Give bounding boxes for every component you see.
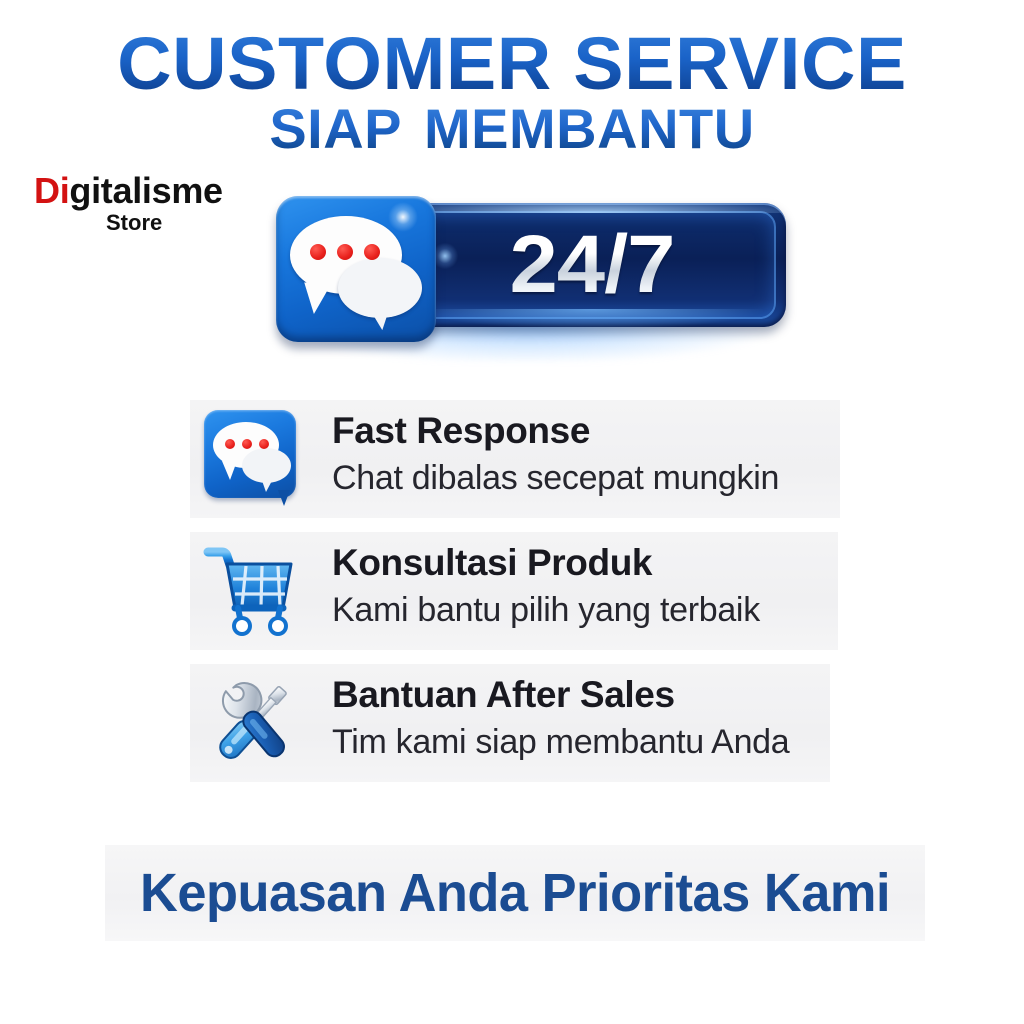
brand-logo-letter-i: i — [60, 170, 70, 211]
chat-icon-pointer — [278, 490, 290, 506]
typing-dot — [242, 439, 252, 449]
list-item: Konsultasi Produk Kami bantu pilih yang … — [0, 532, 1024, 650]
feature-icon-slot — [198, 672, 308, 776]
feature-text-group: Bantuan After Sales Tim kami siap memban… — [332, 672, 789, 766]
feature-title: Konsultasi Produk — [332, 540, 760, 586]
feature-list: Fast Response Chat dibalas secepat mungk… — [0, 400, 1024, 796]
badge-bar: 24/7 — [398, 203, 786, 327]
feature-text-group: Konsultasi Produk Kami bantu pilih yang … — [332, 540, 760, 634]
brand-logo: Digitalisme Store — [34, 172, 274, 235]
badge-icon-shine — [388, 202, 418, 232]
feature-subtitle: Tim kami siap membantu Anda — [332, 718, 789, 766]
typing-dot — [259, 439, 269, 449]
page-subtitle: SIAPMEMBANTU — [0, 100, 1024, 158]
page-subtitle-part2: MEMBANTU — [424, 97, 755, 160]
feature-subtitle: Kami bantu pilih yang terbaik — [332, 586, 760, 634]
typing-dot — [364, 244, 380, 260]
feature-title: Bantuan After Sales — [332, 672, 789, 718]
feature-text-group: Fast Response Chat dibalas secepat mungk… — [332, 408, 779, 502]
typing-dot — [337, 244, 353, 260]
footer-tagline: Kepuasan Anda Prioritas Kami — [117, 845, 912, 941]
typing-dots-icon — [225, 439, 269, 449]
brand-logo-letter-d: D — [34, 170, 60, 211]
brand-logo-name-rest: gitalisme — [69, 170, 222, 211]
brand-logo-subtitle: Store — [106, 211, 274, 235]
typing-dot — [225, 439, 235, 449]
typing-dots-icon — [310, 244, 380, 260]
feature-subtitle: Chat dibalas secepat mungkin — [332, 454, 779, 502]
chat-bubbles-icon — [276, 196, 436, 342]
availability-badge: 24/7 — [268, 190, 788, 360]
list-item: Bantuan After Sales Tim kami siap memban… — [0, 664, 1024, 782]
feature-icon-slot — [198, 540, 308, 644]
chat-bubble-secondary-tail — [368, 302, 396, 332]
badge-value: 24/7 — [398, 217, 786, 313]
tools-wrench-screwdriver-icon — [200, 672, 306, 772]
page-subtitle-part1: SIAP — [269, 97, 402, 160]
list-item: Fast Response Chat dibalas secepat mungk… — [0, 400, 1024, 518]
shopping-cart-icon — [200, 540, 306, 640]
brand-logo-name: Digitalisme — [34, 172, 274, 210]
chat-bubble-secondary-tail — [260, 475, 275, 492]
chat-bubble-primary-tail — [222, 461, 237, 480]
feature-title: Fast Response — [332, 408, 779, 454]
chat-bubbles-icon — [204, 410, 296, 498]
chat-bubble-primary-tail — [300, 282, 330, 315]
typing-dot — [310, 244, 326, 260]
poster-canvas: CUSTOMER SERVICE SIAPMEMBANTU Digitalism… — [0, 0, 1024, 1024]
page-title: CUSTOMER SERVICE — [0, 26, 1024, 102]
feature-icon-slot — [198, 408, 308, 512]
